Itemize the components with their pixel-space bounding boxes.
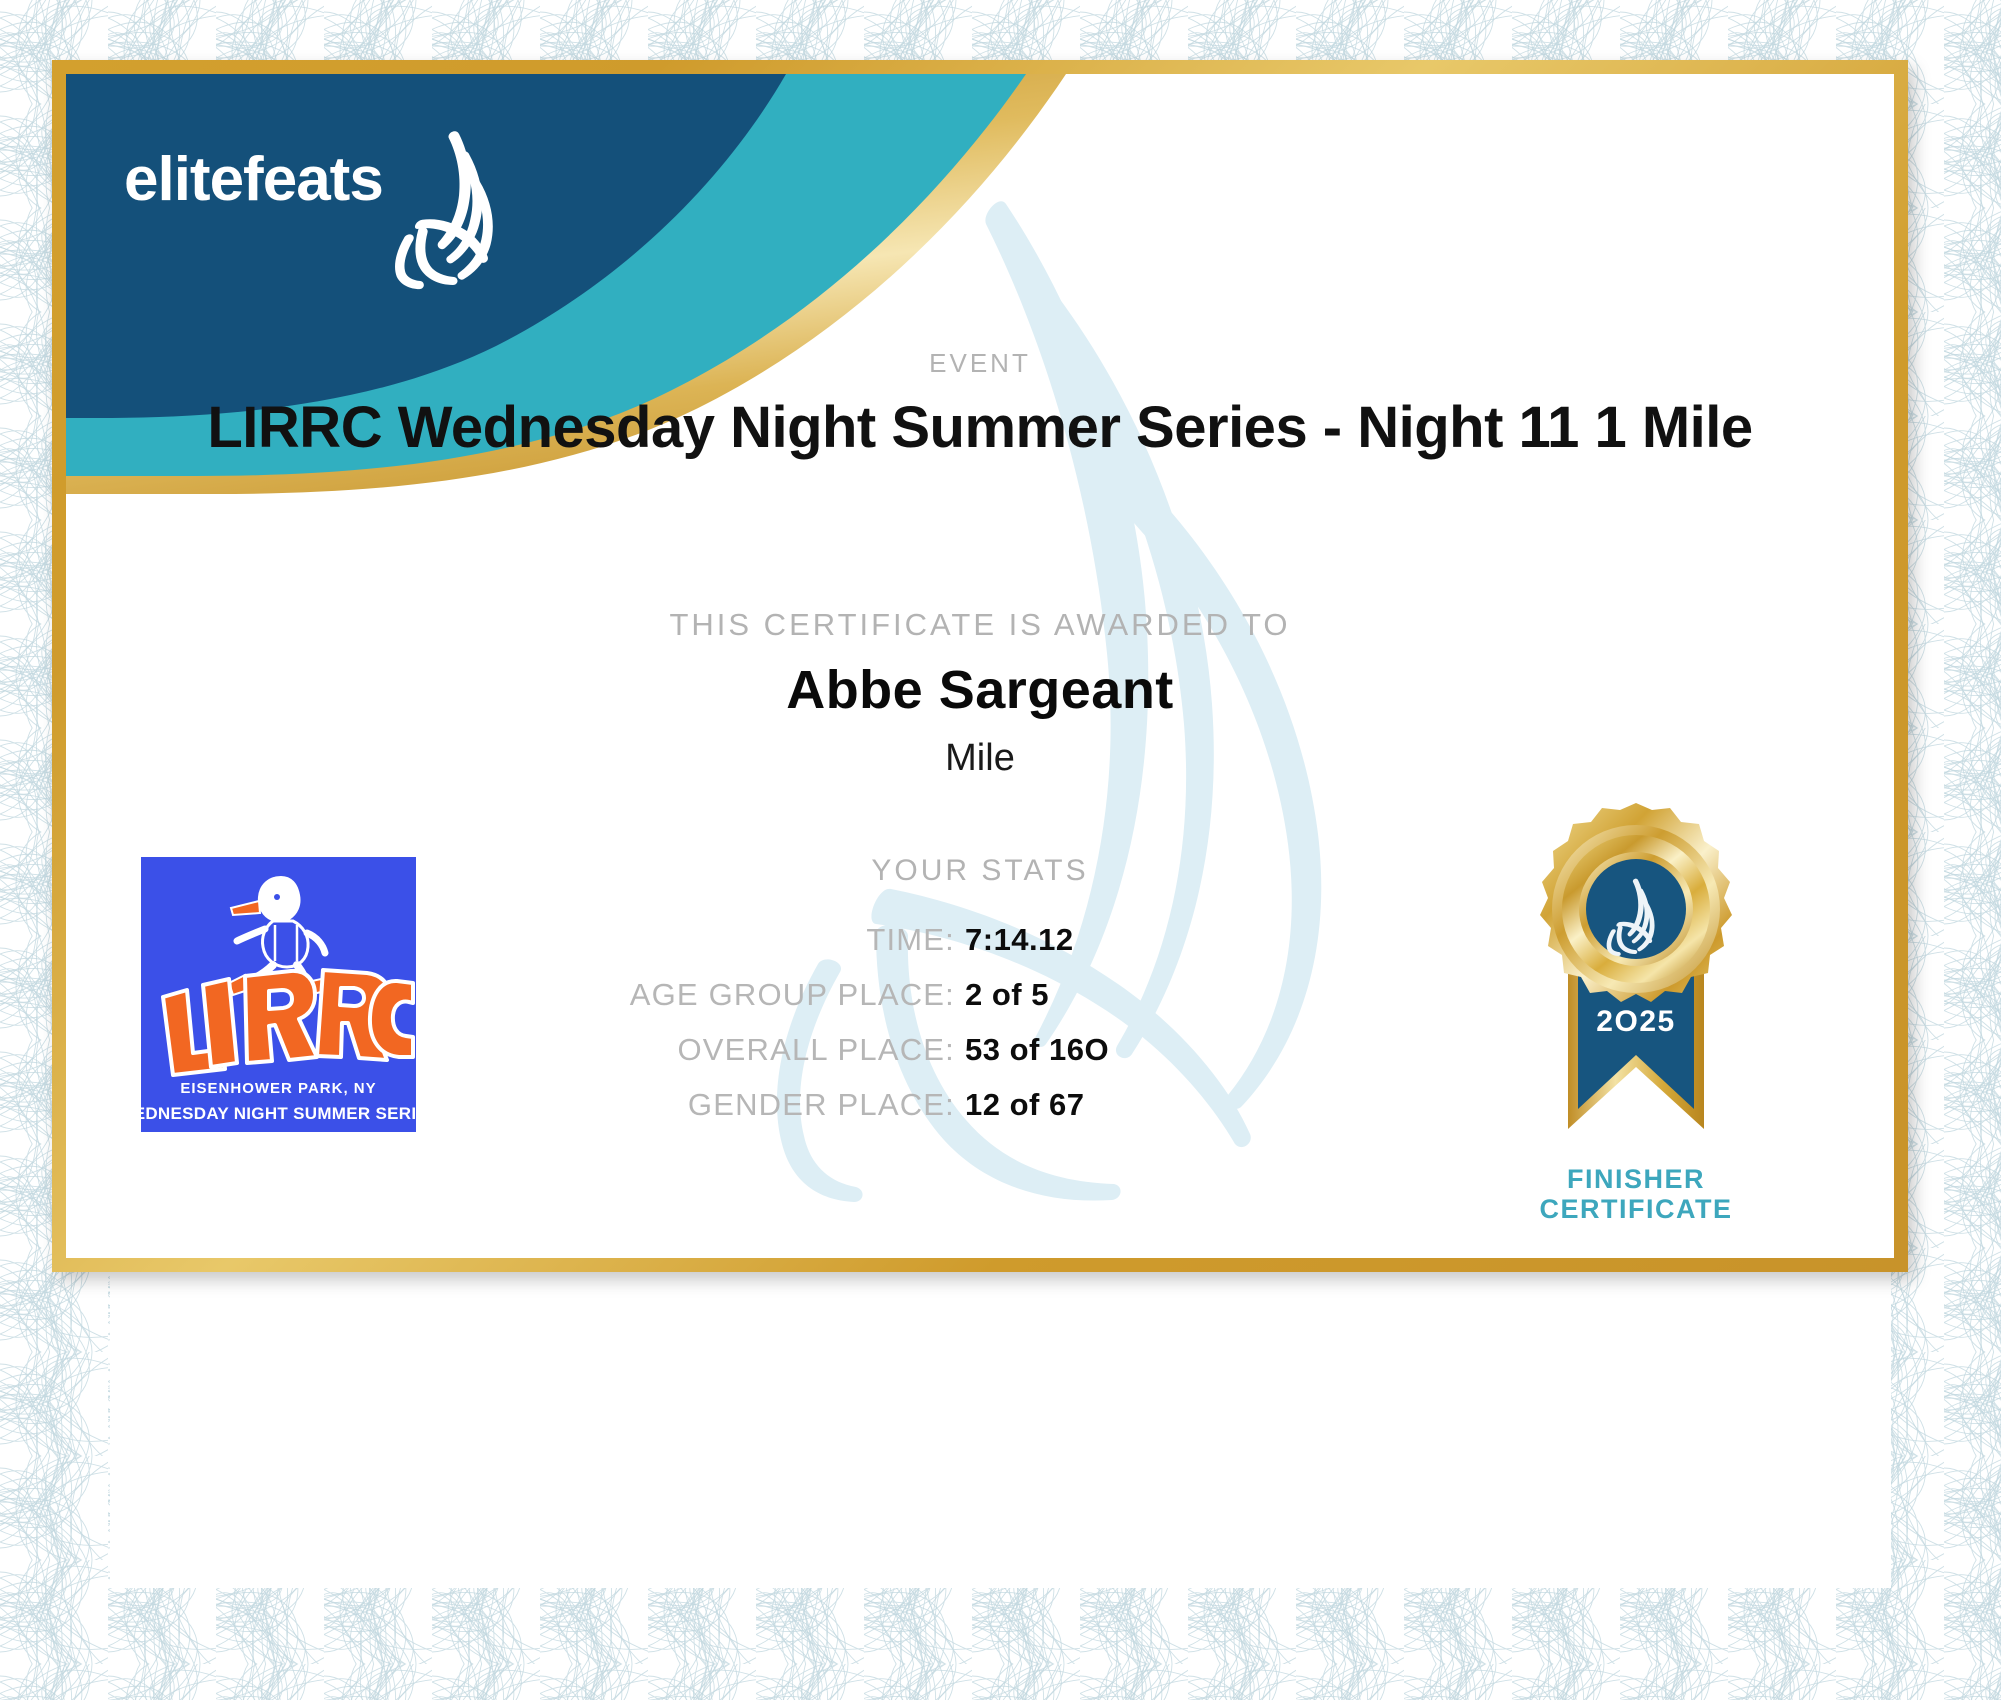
medal-year-text: 2O25 <box>1596 1005 1675 1038</box>
recipient-division: Mile <box>66 737 1894 780</box>
event-title: LIRRC Wednesday Night Summer Series - Ni… <box>66 394 1894 461</box>
finisher-medal-badge: 2O25 <box>1506 799 1766 1159</box>
finisher-caption-line2: CERTIFICATE <box>1466 1194 1806 1224</box>
certificate-body: elitefeats EVENT LIRRC Wednesday Night S… <box>66 74 1894 1258</box>
certificate-content: EVENT LIRRC Wednesday Night Summer Serie… <box>66 74 1894 1258</box>
certificate-gold-frame: elitefeats EVENT LIRRC Wednesday Night S… <box>52 60 1908 1272</box>
certificate-page: elitefeats EVENT LIRRC Wednesday Night S… <box>0 0 2001 1700</box>
event-kicker-label: EVENT <box>66 348 1894 379</box>
recipient-name: Abbe Sargeant <box>66 659 1894 721</box>
medal-rosette <box>1540 803 1732 1002</box>
lirrc-series-text: WEDNESDAY NIGHT SUMMER SERIES <box>141 1104 416 1123</box>
finisher-caption-line1: FINISHER <box>1466 1164 1806 1194</box>
lirrc-club-logo: EISENHOWER PARK, NY WEDNESDAY NIGHT SUMM… <box>141 857 416 1132</box>
awarded-to-label: THIS CERTIFICATE IS AWARDED TO <box>66 607 1894 643</box>
lirrc-location-text: EISENHOWER PARK, NY <box>180 1080 376 1097</box>
finisher-certificate-caption: FINISHER CERTIFICATE <box>1466 1164 1806 1224</box>
